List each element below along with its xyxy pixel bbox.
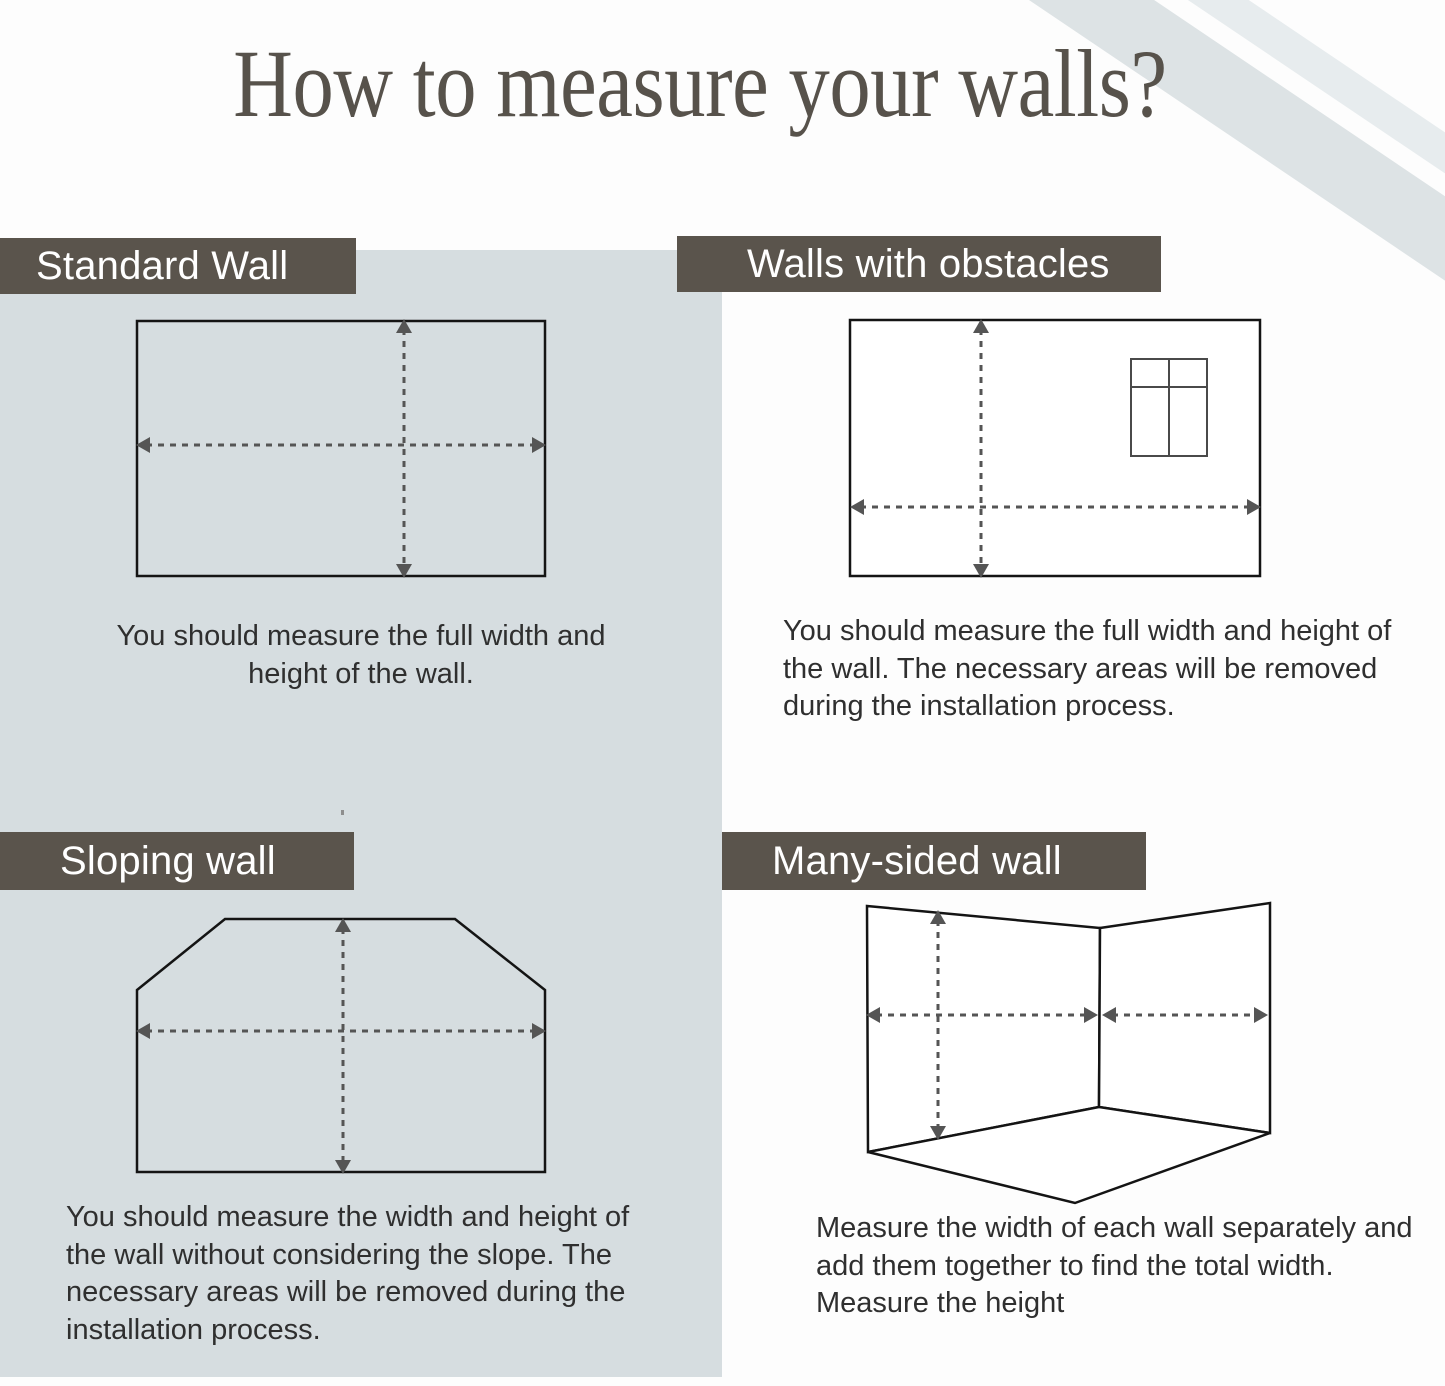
section-header-label: Standard Wall [36,246,288,286]
standard-wall-svg [110,300,580,600]
section-header-standard-wall: Standard Wall [0,238,356,294]
diagram-walls-with-obstacles [830,300,1290,600]
wall-outline [137,919,545,1172]
speck-artifact [341,810,344,815]
diagram-sloping-wall [110,890,580,1200]
caption-many-sided-wall: Measure the width of each wall separatel… [816,1210,1416,1323]
corner-room-svg [840,890,1300,1215]
caption-sloping-wall: You should measure the width and height … [66,1199,666,1350]
section-header-many-sided-wall: Many-sided wall [722,832,1146,890]
window-obstacle-icon [1131,359,1207,456]
obstacles-wall-svg [830,300,1290,600]
section-header-label: Sloping wall [60,841,276,881]
sloping-wall-svg [110,890,580,1200]
diagram-many-sided-wall [840,890,1300,1215]
infographic-page: How to measure your walls? Standard Wall [0,0,1445,1386]
diagram-standard-wall [110,300,580,600]
caption-walls-with-obstacles: You should measure the full width and he… [783,613,1408,726]
section-header-label: Many-sided wall [772,841,1062,881]
section-header-walls-with-obstacles: Walls with obstacles [677,236,1161,292]
wall-outline [137,321,545,576]
page-title: How to measure your walls? [98,34,1302,135]
section-header-label: Walls with obstacles [747,244,1110,284]
caption-standard-wall: You should measure the full width and he… [96,618,626,693]
section-header-sloping-wall: Sloping wall [0,832,354,890]
right-wall-face [1099,903,1270,1133]
